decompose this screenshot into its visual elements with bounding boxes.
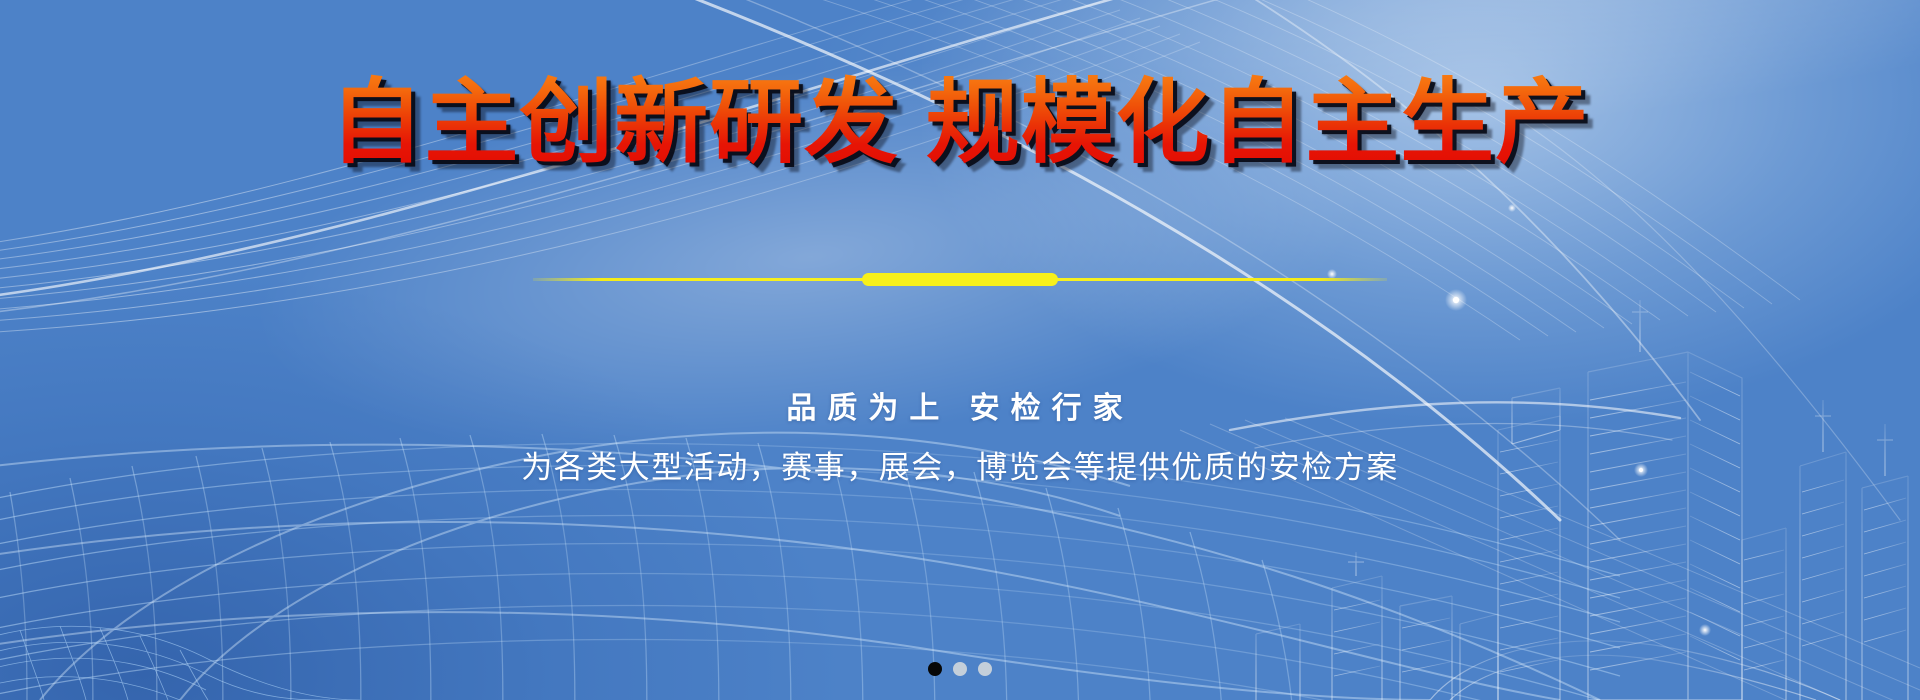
carousel-dot-1[interactable] bbox=[928, 662, 942, 676]
headline-container: 自主创新研发 规模化自主生产 bbox=[0, 74, 1920, 172]
hero-banner: 自主创新研发 规模化自主生产 品质为上 安检行家 为各类大型活动，赛事，展会，博… bbox=[0, 0, 1920, 700]
subtitle-primary: 品质为上 安检行家 bbox=[0, 388, 1920, 430]
carousel-dots[interactable] bbox=[928, 662, 992, 676]
carousel-dot-2[interactable] bbox=[953, 662, 967, 676]
subtitle-secondary: 为各类大型活动，赛事，展会，博览会等提供优质的安检方案 bbox=[0, 446, 1920, 490]
decorative-divider bbox=[533, 272, 1387, 288]
page-title: 自主创新研发 规模化自主生产 bbox=[330, 74, 1590, 172]
subtitle-container: 品质为上 安检行家 为各类大型活动，赛事，展会，博览会等提供优质的安检方案 bbox=[0, 388, 1920, 490]
divider-center-bar bbox=[862, 273, 1058, 286]
carousel-dot-3[interactable] bbox=[978, 662, 992, 676]
